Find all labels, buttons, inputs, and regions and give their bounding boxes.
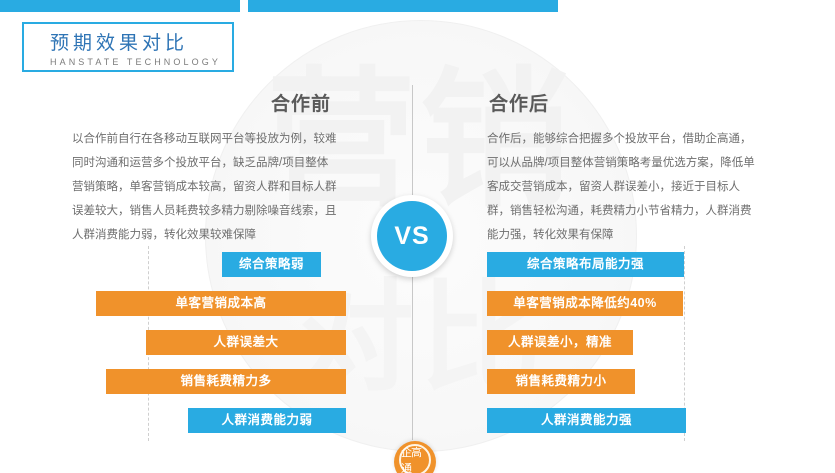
bar-right-4: 销售耗费精力小 xyxy=(487,369,635,394)
slide-canvas: 营销 对比 预期效果对比 HANSTATE TECHNOLOGY 合作前 合作后… xyxy=(0,0,835,473)
column-heading-before: 合作前 xyxy=(271,89,331,116)
top-accent-bar-left xyxy=(0,0,240,12)
page-subtitle: HANSTATE TECHNOLOGY xyxy=(50,57,221,67)
bar-left-5: 人群消费能力弱 xyxy=(188,408,346,433)
vs-badge-label: VS xyxy=(377,201,447,271)
paragraph-after: 合作后，能够综合把握多个投放平台，借助企高通，可以从品牌/项目整体营销策略考量优… xyxy=(487,127,759,247)
column-heading-after: 合作后 xyxy=(489,89,549,116)
bar-left-1: 综合策略弱 xyxy=(222,252,321,277)
paragraph-before: 以合作前自行在各移动互联网平台等投放为例，较难同时沟通和运营多个投放平台，缺乏品… xyxy=(72,127,338,247)
bar-left-2: 单客营销成本高 xyxy=(96,291,346,316)
top-accent-bar-middle xyxy=(248,0,558,12)
bar-right-1: 综合策略布局能力强 xyxy=(487,252,684,277)
bar-left-4: 销售耗费精力多 xyxy=(106,369,346,394)
bar-left-3: 人群误差大 xyxy=(146,330,346,355)
bar-right-2: 单客营销成本降低约40% xyxy=(487,291,683,316)
vs-badge: VS xyxy=(371,195,453,277)
bar-right-5: 人群消费能力强 xyxy=(487,408,686,433)
page-title: 预期效果对比 xyxy=(50,28,188,55)
bottom-medal-label: 企高通 xyxy=(399,444,431,473)
bar-right-3: 人群误差小，精准 xyxy=(487,330,633,355)
